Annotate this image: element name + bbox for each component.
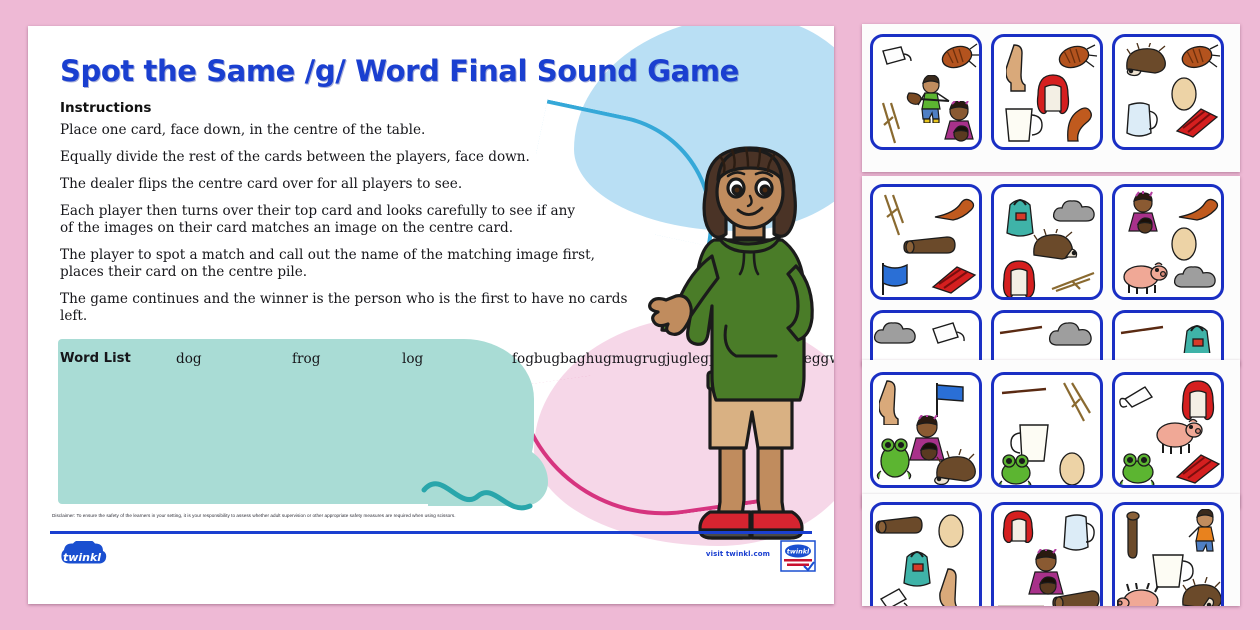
bag-icon (1119, 381, 1163, 411)
picture-card-10[interactable] (870, 372, 982, 488)
frog-icon (1117, 451, 1163, 487)
word-list-header: Word List (60, 346, 176, 373)
peg-icon (998, 323, 1046, 339)
fog-icon (1048, 319, 1098, 353)
picture-card-9[interactable] (1112, 310, 1224, 366)
fog-icon (873, 319, 919, 351)
twig-icon (1060, 381, 1100, 425)
word-item: bag (560, 346, 586, 373)
rug-icon (929, 261, 979, 297)
twinkl-approved-badge: twinkl (780, 540, 816, 572)
word-item: frog (292, 346, 402, 373)
instruction-step: The dealer flips the centre card over fo… (60, 176, 630, 193)
picture-card-12[interactable] (1112, 372, 1224, 488)
twig-icon (1050, 269, 1100, 295)
svg-text:twinkl: twinkl (63, 551, 101, 564)
picture-card-15[interactable] (1112, 502, 1224, 606)
log-icon (903, 231, 959, 259)
card-row-2 (870, 184, 1224, 300)
bug-icon (1177, 41, 1221, 75)
visit-twinkl-link[interactable]: visit twinkl.com (706, 550, 770, 558)
picture-card-5[interactable] (991, 184, 1103, 300)
word-item: mug (612, 346, 642, 373)
twinkl-logo: twinkl (52, 541, 112, 571)
disclaimer-text: Disclaimer: To ensure the safety of the … (52, 512, 812, 519)
flag-icon (927, 381, 977, 419)
log-icon (875, 513, 925, 539)
pig-icon (1119, 259, 1169, 297)
instruction-step: The player to spot a match and call out … (60, 247, 630, 281)
wig-icon (1177, 379, 1221, 421)
bag-icon (929, 321, 973, 351)
pointing-child-illustration (648, 144, 834, 554)
bag-icon (1177, 317, 1221, 353)
hedgehog-icon (1028, 229, 1080, 263)
hedgehog-icon (1121, 43, 1169, 77)
instruction-step: Place one card, face down, in the centre… (60, 122, 630, 139)
picture-card-3[interactable] (1112, 34, 1224, 150)
instruction-step: The game continues and the winner is the… (60, 291, 630, 325)
leg-icon (879, 379, 905, 425)
leg-icon (1006, 43, 1032, 93)
mug-icon (1000, 103, 1046, 145)
rug-icon (1173, 449, 1223, 487)
card-sheet-4 (862, 494, 1240, 606)
pig-icon (1117, 583, 1167, 606)
hug-icon (1121, 191, 1167, 239)
card-row-1 (870, 34, 1224, 150)
slug-icon (931, 195, 977, 223)
picture-card-7[interactable] (870, 310, 982, 366)
bag-icon (899, 545, 939, 587)
picture-card-4[interactable] (870, 184, 982, 300)
log-icon (1052, 587, 1102, 606)
word-item: bug (534, 346, 560, 373)
slug-icon (1060, 103, 1098, 145)
card-sheet-2 (862, 176, 1240, 366)
instructions-list: Place one card, face down, in the centre… (60, 122, 630, 335)
picture-card-13[interactable] (870, 502, 982, 606)
slug-icon (1175, 195, 1221, 223)
card-row-4 (870, 372, 1224, 488)
wig-icon (998, 259, 1040, 299)
bag-icon (879, 45, 913, 69)
footer-divider (50, 531, 812, 534)
card-sheets-panel (862, 24, 1240, 606)
peg-icon (1000, 385, 1050, 399)
bag-icon (877, 585, 917, 606)
picture-card-6[interactable] (1112, 184, 1224, 300)
card-sheet-1 (862, 24, 1240, 172)
instructions-heading: Instructions (60, 100, 151, 116)
hedgehog-icon (929, 449, 979, 485)
leg-icon (939, 567, 967, 606)
frog-icon (875, 437, 919, 481)
word-item: dog (176, 346, 292, 373)
flag-icon (877, 261, 919, 297)
wig-icon (998, 509, 1046, 543)
instruction-step: Equally divide the rest of the cards bet… (60, 149, 630, 166)
picture-card-8[interactable] (991, 310, 1103, 366)
egg-icon (1056, 449, 1090, 487)
fog-icon (1173, 263, 1221, 295)
fog-icon (1052, 197, 1100, 229)
rug-icon (1173, 103, 1221, 143)
card-row-3-partial (870, 310, 1224, 366)
peg-icon (996, 599, 1048, 606)
hedgehog-icon (1175, 577, 1223, 606)
picture-card-14[interactable] (991, 502, 1103, 606)
word-item: fog (512, 346, 534, 373)
card-sheet-3 (862, 360, 1240, 508)
page-root: Spot the Same /g/ Word Final Sound Game … (0, 0, 1260, 630)
svg-text:twinkl: twinkl (787, 548, 810, 556)
page-title: Spot the Same /g/ Word Final Sound Game (60, 54, 739, 88)
card-row-5 (870, 502, 1224, 606)
egg-icon (935, 511, 969, 549)
hug-icon (939, 101, 982, 149)
egg-icon (1169, 225, 1201, 261)
peg-icon (1119, 323, 1167, 339)
word-item: log (402, 346, 512, 373)
picture-card-2[interactable] (991, 34, 1103, 150)
bug-icon (937, 41, 979, 73)
picture-card-1[interactable] (870, 34, 982, 150)
picture-card-11[interactable] (991, 372, 1103, 488)
twig-icon (875, 99, 905, 147)
word-list-grid: Word List dog frog log fog bug bag hug m… (60, 346, 490, 373)
instruction-step: Each player then turns over their top ca… (60, 203, 630, 237)
bug-icon (1054, 41, 1098, 73)
word-item: hug (586, 346, 612, 373)
instruction-sheet: Spot the Same /g/ Word Final Sound Game … (28, 26, 834, 604)
jug-icon (1121, 99, 1161, 145)
frog-icon (996, 453, 1040, 487)
